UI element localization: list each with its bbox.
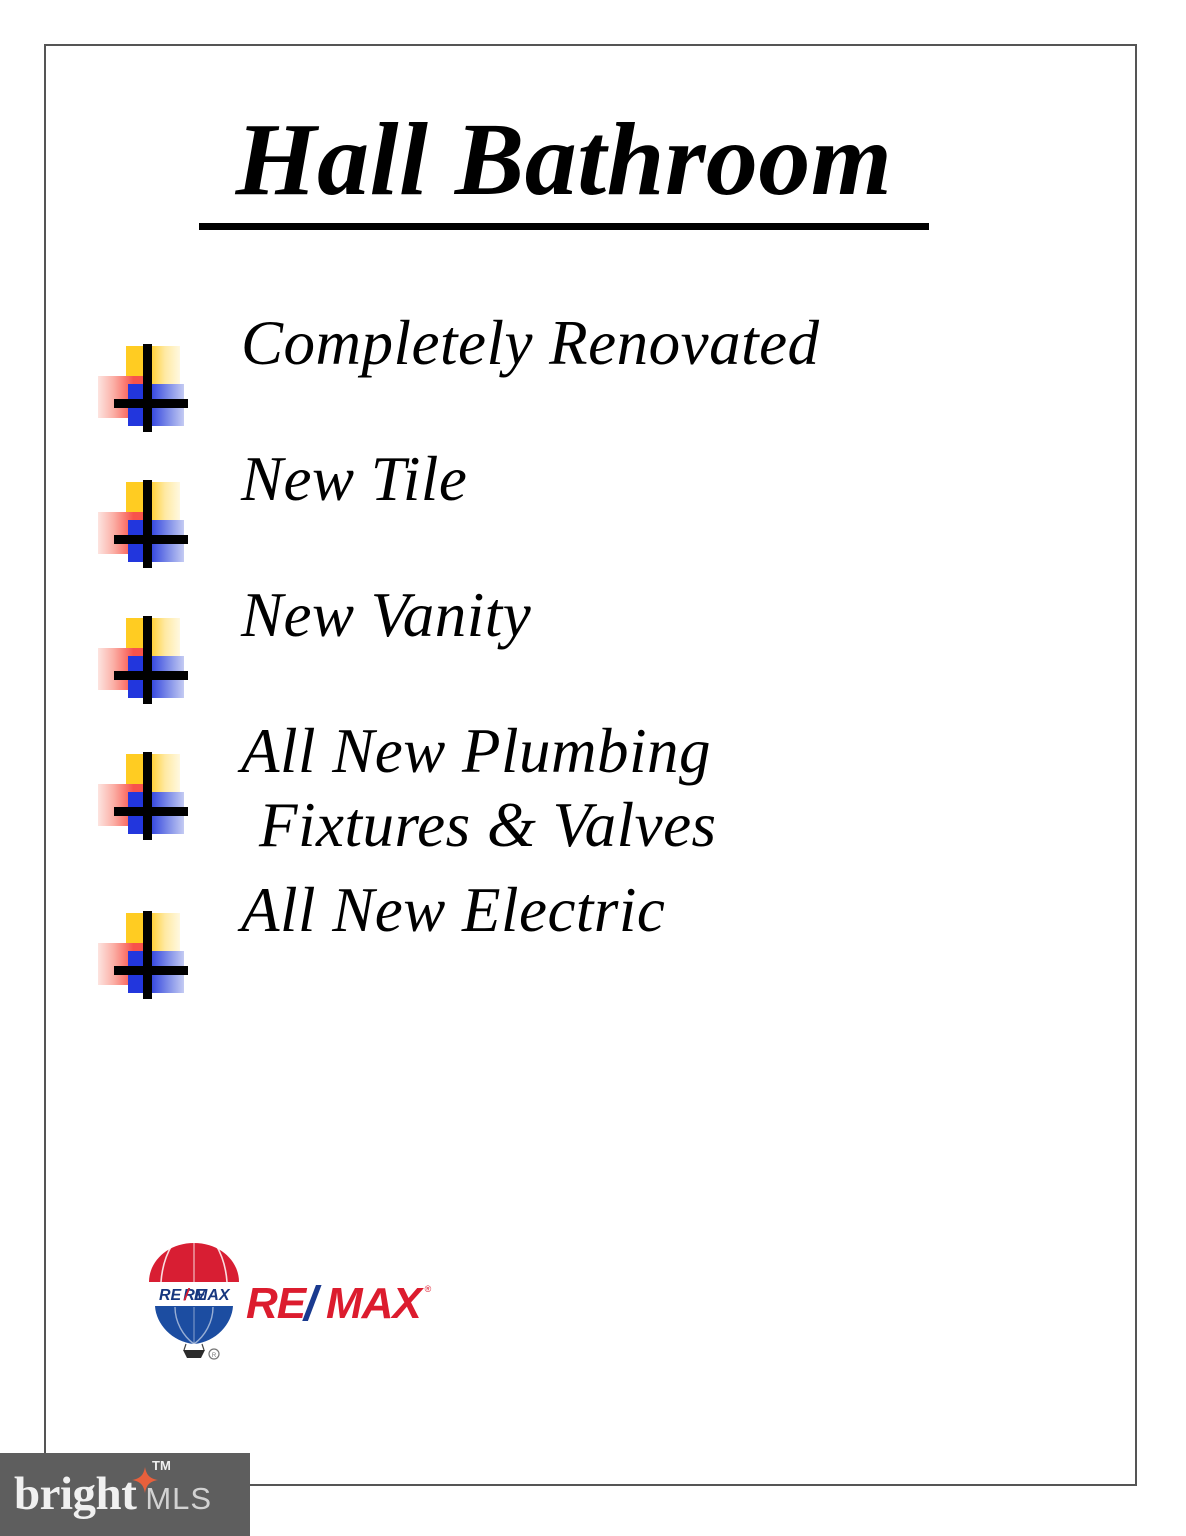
bullet-vertical-bar — [143, 911, 152, 999]
bullet-vertical-bar — [143, 616, 152, 704]
feature-text-line1: All New Electric — [241, 875, 665, 945]
list-item: All New Plumbing Fixtures & Valves — [96, 708, 1076, 863]
feature-text: New Vanity — [241, 572, 1076, 652]
bullet-horizontal-bar — [114, 671, 188, 680]
remax-balloon-icon: RE RE / MAX R — [142, 1240, 246, 1360]
bullet-horizontal-bar — [114, 807, 188, 816]
mondrian-square-bullet-icon — [96, 344, 188, 432]
feature-text-line2: Fixtures & Valves — [241, 788, 1076, 862]
list-item: Completely Renovated — [96, 300, 1076, 432]
mondrian-square-bullet-icon — [96, 480, 188, 568]
bullet-cell — [96, 708, 241, 840]
feature-list: Completely Renovated New Tile — [96, 300, 1076, 1003]
bullet-horizontal-bar — [114, 966, 188, 975]
feature-text: All New Electric — [241, 867, 1076, 947]
feature-text: All New Plumbing Fixtures & Valves — [241, 708, 1076, 863]
svg-text:MAX: MAX — [326, 1279, 424, 1328]
mondrian-square-bullet-icon — [96, 911, 188, 999]
feature-text: Completely Renovated — [241, 300, 1076, 380]
bright-mls-watermark: bright MLS TM — [0, 1453, 250, 1536]
watermark-brand: bright — [14, 1471, 136, 1518]
svg-text:MAX: MAX — [194, 1287, 231, 1304]
bullet-vertical-bar — [143, 480, 152, 568]
svg-text:R: R — [212, 1353, 217, 1359]
registered-mark: ® — [425, 1284, 432, 1294]
bullet-vertical-bar — [143, 752, 152, 840]
remax-logo: RE RE / MAX R RE / MAX ® — [142, 1240, 442, 1360]
bullet-cell — [96, 572, 241, 704]
mondrian-square-bullet-icon — [96, 616, 188, 704]
watermark-inner: bright MLS TM — [0, 1471, 212, 1518]
mondrian-square-bullet-icon — [96, 752, 188, 840]
bullet-vertical-bar — [143, 344, 152, 432]
svg-text:RE: RE — [246, 1279, 308, 1328]
bullet-cell — [96, 300, 241, 432]
list-item: All New Electric — [96, 867, 1076, 999]
title-underline — [199, 223, 929, 230]
bullet-horizontal-bar — [114, 535, 188, 544]
svg-text:/: / — [302, 1278, 322, 1331]
svg-text:RE: RE — [159, 1287, 183, 1304]
bullet-cell — [96, 436, 241, 568]
title-block: Hall Bathroom — [194, 105, 934, 230]
bullet-cell — [96, 867, 241, 999]
feature-text-line1: All New Plumbing — [241, 716, 711, 786]
feature-text-line1: New Vanity — [241, 580, 531, 650]
remax-wordmark: RE / MAX ® — [246, 1278, 436, 1332]
feature-text: New Tile — [241, 436, 1076, 516]
bullet-horizontal-bar — [114, 399, 188, 408]
list-item: New Tile — [96, 436, 1076, 568]
feature-text-line1: New Tile — [241, 444, 467, 514]
page-title: Hall Bathroom — [194, 105, 934, 215]
watermark-trademark: TM — [152, 1458, 171, 1473]
list-item: New Vanity — [96, 572, 1076, 704]
feature-text-line1: Completely Renovated — [241, 308, 820, 378]
